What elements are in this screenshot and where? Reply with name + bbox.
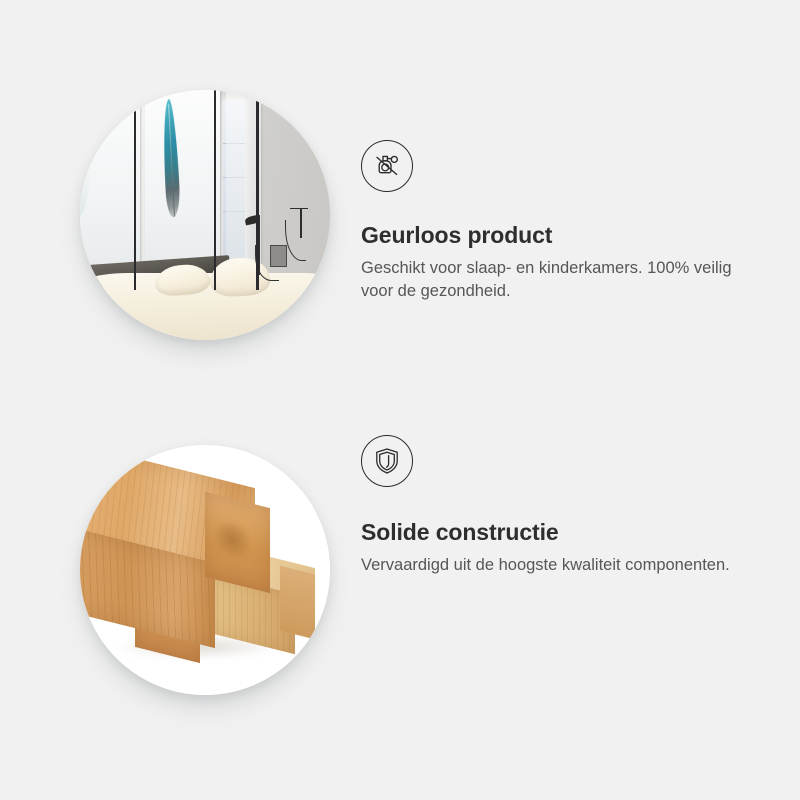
feature-title: Geurloos product [361, 222, 761, 250]
product-feature-page: { "page": { "background_color": "#f1f1f1… [0, 0, 800, 800]
feature-description: Vervaardigd uit de hoogste kwaliteit com… [361, 554, 747, 577]
feather-artwork-middle [161, 99, 181, 217]
feature-description: Geschikt voor slaap- en kinderkamers. 10… [361, 257, 747, 304]
wood-beam-main-end-grain [205, 492, 270, 593]
canvas-panel-edge-2 [214, 90, 217, 290]
wood-beam-right-end-grain [280, 566, 315, 640]
canvas-panel-edge-1 [134, 90, 137, 290]
no-perfume-icon [361, 140, 413, 192]
bedroom-scene [80, 90, 330, 340]
feature-text-odourless: Geurloos product Geschikt voor slaap- en… [361, 60, 761, 303]
feature-image-construction [80, 445, 330, 695]
canvas-panel-middle [145, 90, 220, 270]
feature-title: Solide constructie [361, 519, 761, 547]
bedroom-background [80, 90, 330, 340]
canvas-panel-edge-3 [256, 90, 259, 290]
wood-scene [80, 445, 330, 695]
wood-background [80, 445, 330, 695]
feature-block-odourless: Geurloos product Geschikt voor slaap- en… [0, 60, 800, 420]
feature-block-construction: Solide constructie Vervaardigd uit de ho… [0, 415, 800, 775]
wall-sconce-arm [290, 208, 308, 210]
canvas-panel-left [80, 90, 140, 270]
shield-icon [361, 435, 413, 487]
feature-image-odourless [80, 90, 330, 340]
feature-text-construction: Solide constructie Vervaardigd uit de ho… [361, 415, 761, 577]
feather-artwork-faded [80, 137, 95, 218]
